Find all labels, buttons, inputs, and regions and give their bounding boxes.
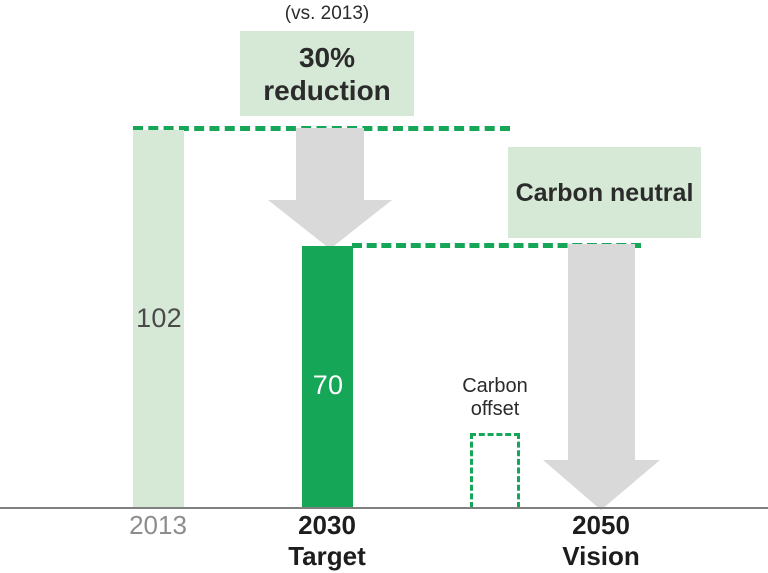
axis-label-2013-year: 2013 [108, 510, 208, 541]
baseline-axis [0, 507, 768, 509]
reduction-arrow-icon [268, 128, 392, 249]
reduction-line-1: 30% [299, 42, 355, 73]
carbon-offset-line-2: offset [471, 398, 520, 420]
bar-value-2030: 70 [300, 372, 356, 399]
callout-carbon-neutral: Carbon neutral [508, 147, 701, 238]
carbon-offset-label: Carbon offset [432, 375, 558, 421]
carbon-offset-line-1: Carbon [462, 375, 528, 397]
callout-30-percent-reduction: 30% reduction [240, 31, 414, 116]
reduction-line-2: reduction [263, 75, 391, 106]
axis-label-2050-year: 2050 [551, 510, 651, 541]
carbon-neutral-label: Carbon neutral [516, 178, 694, 208]
vs-2013-note: (vs. 2013) [240, 2, 414, 25]
axis-label-2030: 2030 Target [277, 510, 377, 572]
carbon-neutral-arrow-icon [543, 244, 660, 510]
axis-label-2050: 2050 Vision [551, 510, 651, 572]
axis-label-2030-year: 2030 [277, 510, 377, 541]
carbon-offset-box [470, 433, 520, 508]
axis-label-2030-sub: Target [277, 541, 377, 572]
axis-label-2013: 2013 [108, 510, 208, 541]
emissions-roadmap-chart: (vs. 2013) 30% reduction Carbon neutral … [0, 0, 768, 573]
axis-label-2050-sub: Vision [551, 541, 651, 572]
bar-value-2013: 102 [130, 305, 188, 332]
